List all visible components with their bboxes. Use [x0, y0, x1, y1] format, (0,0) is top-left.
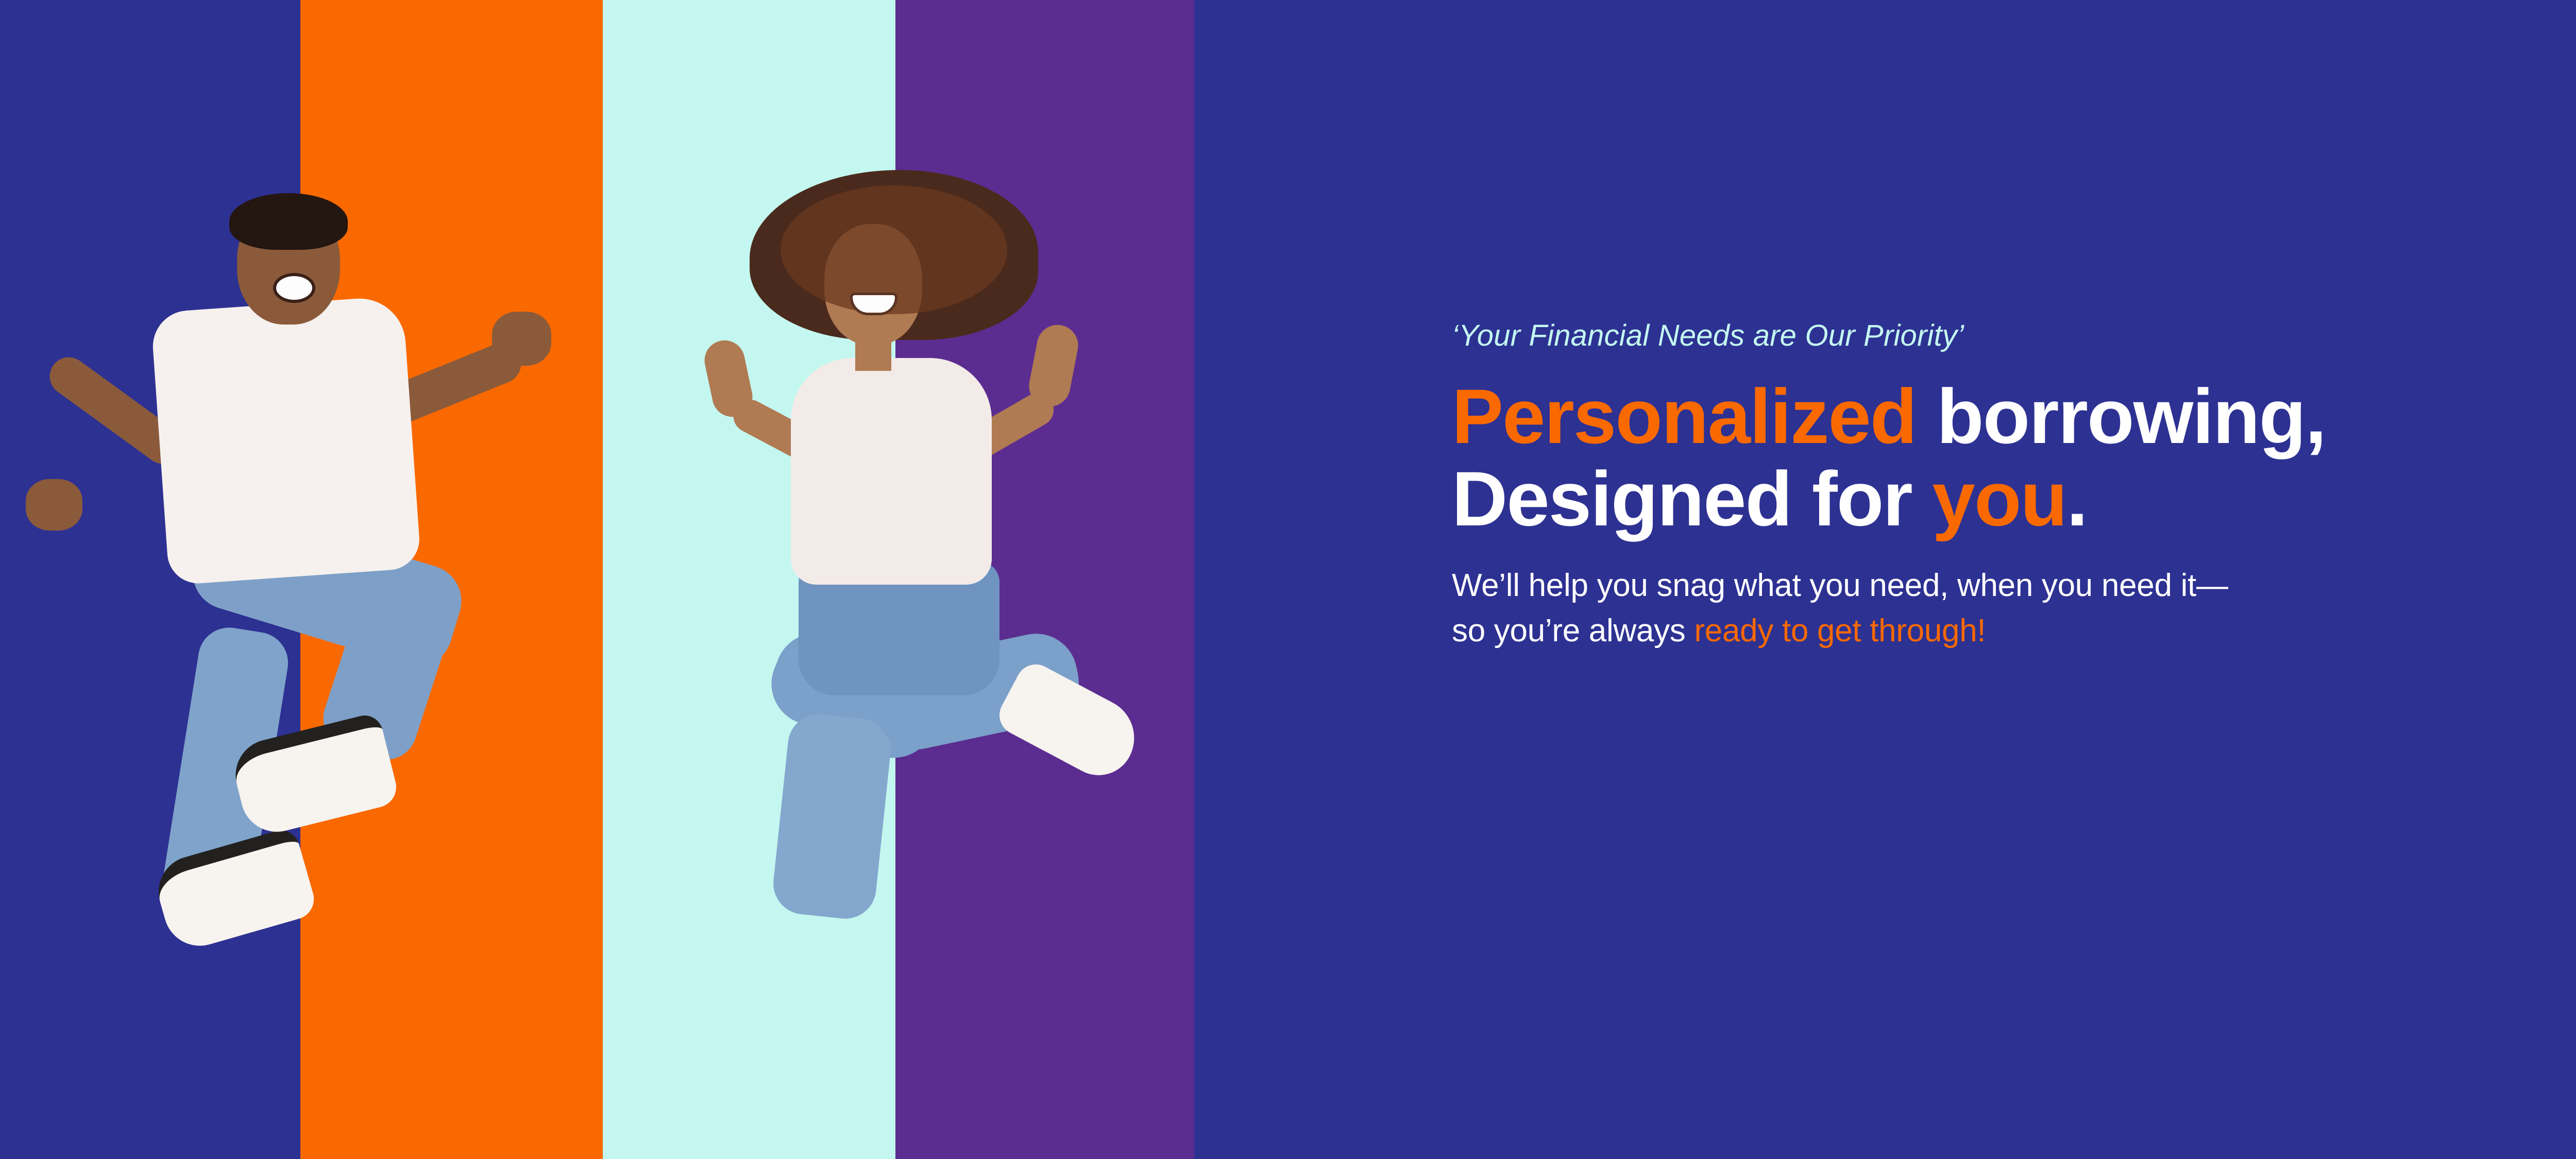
headline-phrase-designed-for: Designed for: [1452, 455, 1932, 542]
man-smile: [273, 273, 315, 303]
headline-word-you: you: [1932, 455, 2066, 542]
copy-block: ‘Your Financial Needs are Our Priority’ …: [1452, 319, 2576, 654]
man-hair: [229, 193, 348, 250]
woman-right-peace-hand: [1025, 321, 1081, 410]
man-left-fist: [26, 479, 82, 531]
subcopy: We’ll help you snag what you need, when …: [1452, 563, 2576, 654]
headline-word-personalized: Personalized: [1452, 373, 1916, 459]
headline-word-borrowing: borrowing,: [1916, 373, 2326, 459]
subcopy-line-2-highlight: ready to get through!: [1694, 613, 1986, 649]
man-right-hand: [492, 312, 551, 366]
woman-left-peace-hand: [701, 337, 756, 421]
subcopy-line-1: We’ll help you snag what you need, when …: [1452, 568, 2228, 603]
headline: Personalized borrowing, Designed for you…: [1452, 375, 2576, 540]
man-torso-shirt: [150, 296, 421, 586]
subcopy-line-2-plain: so you’re always: [1452, 613, 1694, 649]
tagline: ‘Your Financial Needs are Our Priority’: [1452, 319, 2576, 352]
jumping-woman-photo: [693, 170, 1213, 917]
headline-period: .: [2066, 455, 2087, 542]
woman-torso-top: [791, 358, 992, 585]
promo-banner: ‘Your Financial Needs are Our Priority’ …: [0, 0, 2576, 1159]
woman-shin: [770, 711, 894, 922]
jumping-man-photo: [10, 175, 592, 1159]
